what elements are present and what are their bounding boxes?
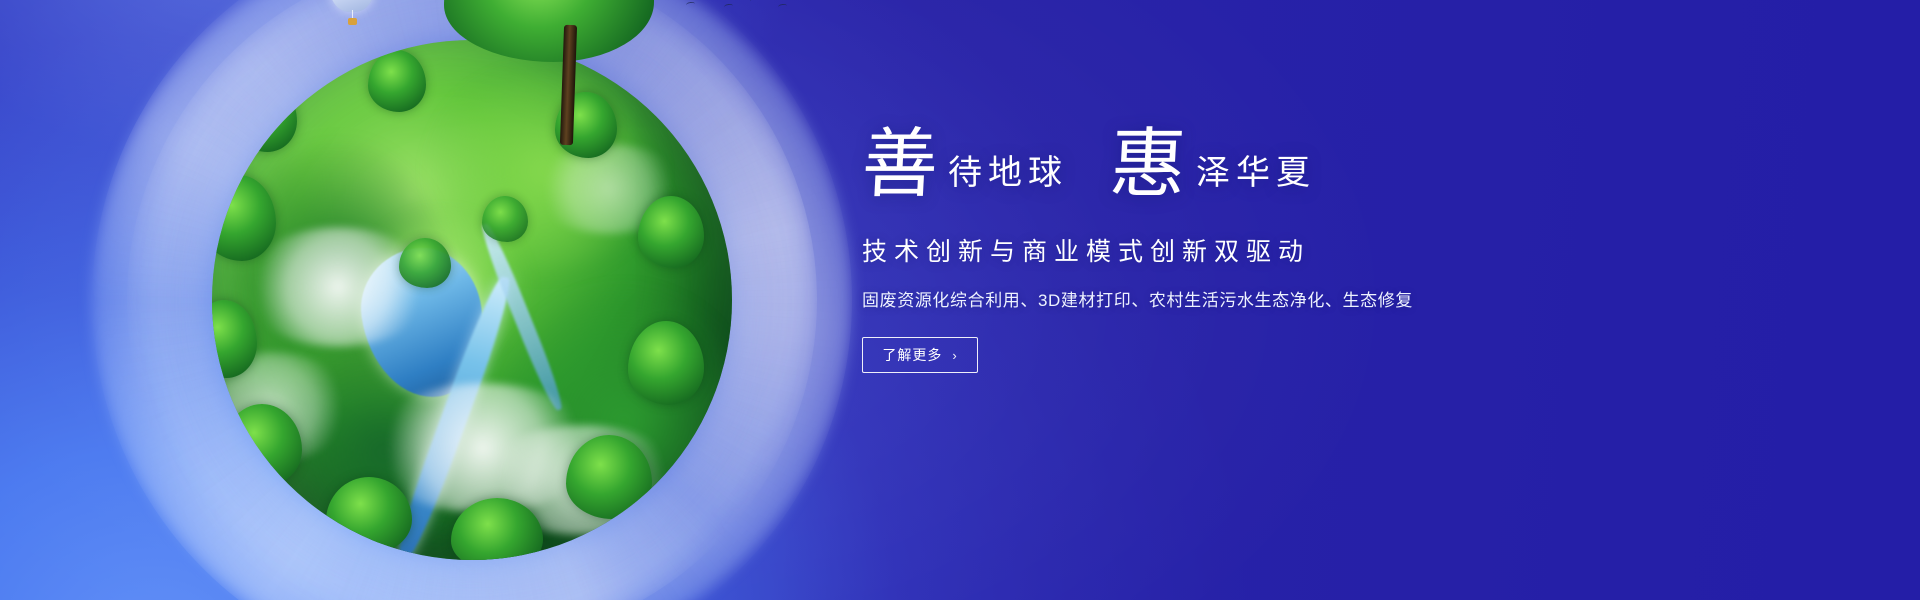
hero-subtitle: 技术创新与商业模式创新双驱动 — [862, 232, 1562, 268]
tree-icon — [399, 238, 451, 288]
tree-icon — [451, 498, 543, 560]
tree-icon — [222, 404, 302, 486]
headline-rest-1: 待地球 — [948, 145, 1068, 194]
tree-icon — [482, 196, 528, 242]
tree-icon — [233, 82, 297, 152]
tree-icon — [326, 477, 412, 553]
headline-rest-2: 泽华夏 — [1196, 145, 1316, 194]
tree-icon — [628, 321, 704, 405]
headline-phrase-2: 惠 泽华夏 — [1110, 128, 1316, 201]
headline-lead-char-2: 惠 — [1108, 128, 1188, 201]
hero-banner: 善 待地球 惠 泽华夏 技术创新与商业模式创新双驱动 固废资源化综合利用、3D建… — [0, 0, 1920, 600]
tree-icon — [212, 300, 257, 378]
tree-icon — [212, 175, 276, 261]
headline-lead-char-1: 善 — [860, 128, 940, 201]
birds-flock-icon — [652, 0, 822, 30]
little-planet-globe-artwork — [92, 0, 852, 600]
globe-sphere — [212, 40, 732, 560]
headline-phrase-1: 善 待地球 — [862, 128, 1068, 201]
rim-tree-group — [212, 40, 732, 560]
hero-content: 善 待地球 惠 泽华夏 技术创新与商业模式创新双驱动 固废资源化综合利用、3D建… — [862, 128, 1562, 373]
chevron-right-icon: › — [952, 349, 957, 362]
tree-icon — [638, 196, 704, 268]
tree-icon — [368, 50, 426, 112]
hero-description: 固废资源化综合利用、3D建材打印、农村生活污水生态净化、生态修复 — [862, 286, 1562, 311]
page-title: 善 待地球 惠 泽华夏 — [862, 128, 1562, 214]
learn-more-button[interactable]: 了解更多 › — [862, 337, 978, 373]
balloon-basket-icon — [348, 18, 357, 25]
tree-icon — [566, 435, 652, 519]
learn-more-label: 了解更多 — [882, 345, 942, 365]
